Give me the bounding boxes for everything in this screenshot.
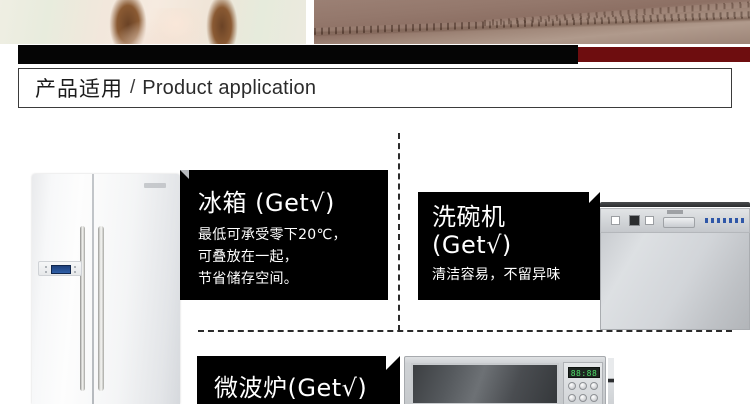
dishwasher-door-handle [663,217,695,228]
dishwasher-caption-line: 清洁容易，不留异味 [432,265,600,285]
refrigerator-image [32,174,184,404]
refrigerator-lcd-display [51,265,71,274]
dishwasher-button [611,216,620,225]
refrigerator-indicator-dot [45,266,47,268]
refrigerator-handle-right [98,226,104,391]
section-title-cn: 产品适用 [35,73,123,103]
dishwasher-display [629,215,640,226]
microwave-knob [590,382,598,390]
microwave-lcd-display: 88:88 [568,367,600,378]
stitch-line-primary [314,11,750,35]
divider-bar [0,45,750,64]
corner-fold-icon [589,192,600,203]
microwave-control-panel: 88:88 [563,362,603,404]
section-title-box: 产品适用 / Product application [18,68,732,108]
dishwasher-indicator-leds [705,218,745,223]
refrigerator-caption-line: 节省储存空间。 [198,268,388,290]
refrigerator-caption-box: 冰箱 (Get√) 最低可承受零下20℃， 可叠放在一起， 节省储存空间。 [180,170,388,300]
dishwasher-control-panel [600,208,750,233]
microwave-knob [579,382,587,390]
header-photo-strip [0,0,750,44]
vertical-dashed-divider [398,133,400,331]
microwave-knob [568,394,576,402]
microwave-image: 88:88 [404,356,614,404]
refrigerator-door-seam [92,174,94,404]
refrigerator-caption-heading: 冰箱 (Get√) [198,183,388,218]
microwave-body: 88:88 [404,356,606,404]
dishwasher-caption-box: 洗碗机 (Get√) 清洁容易，不留异味 [418,192,600,300]
photo-gap [306,0,314,44]
microwave-door-window [411,363,559,404]
refrigerator-body [32,174,180,404]
refrigerator-handle-left [80,226,85,391]
refrigerator-brand-logo [144,183,166,188]
divider-bar-red [578,47,750,62]
microwave-knob [579,394,587,402]
dishwasher-countertop-edge [600,202,750,207]
microwave-adjacent-cabinet [608,358,614,404]
refrigerator-indicator-dot [74,271,76,273]
fabric-stitching-closeup-photo [314,0,750,44]
dishwasher-brand-logo [667,210,683,214]
refrigerator-indicator-dot [74,266,76,268]
dishwasher-caption-heading-line2: (Get√) [432,231,600,259]
corner-fold-icon [386,356,400,370]
refrigerator-caption-line: 最低可承受零下20℃， [198,224,388,246]
horizontal-dashed-divider [198,330,732,332]
dishwasher-caption-heading-line1: 洗碗机 [432,203,600,231]
corner-fold-icon [180,170,189,179]
product-application-section: 产品适用 / Product application [0,0,750,404]
refrigerator-control-panel [38,261,82,276]
refrigerator-indicator-dot [45,271,47,273]
section-title-separator: / [130,77,135,99]
model-wearing-garment-photo [0,0,306,44]
refrigerator-caption-line: 可叠放在一起， [198,246,388,268]
microwave-knob [568,382,576,390]
dishwasher-image [598,202,750,330]
microwave-caption-heading: 微波炉(Get√) [214,368,400,403]
dishwasher-door-panel [600,233,750,330]
microwave-knob [590,394,598,402]
microwave-caption-box: 微波炉(Get√) [197,356,400,404]
divider-bar-black [18,45,578,64]
section-title-en: Product application [142,77,316,100]
dishwasher-button [645,216,654,225]
